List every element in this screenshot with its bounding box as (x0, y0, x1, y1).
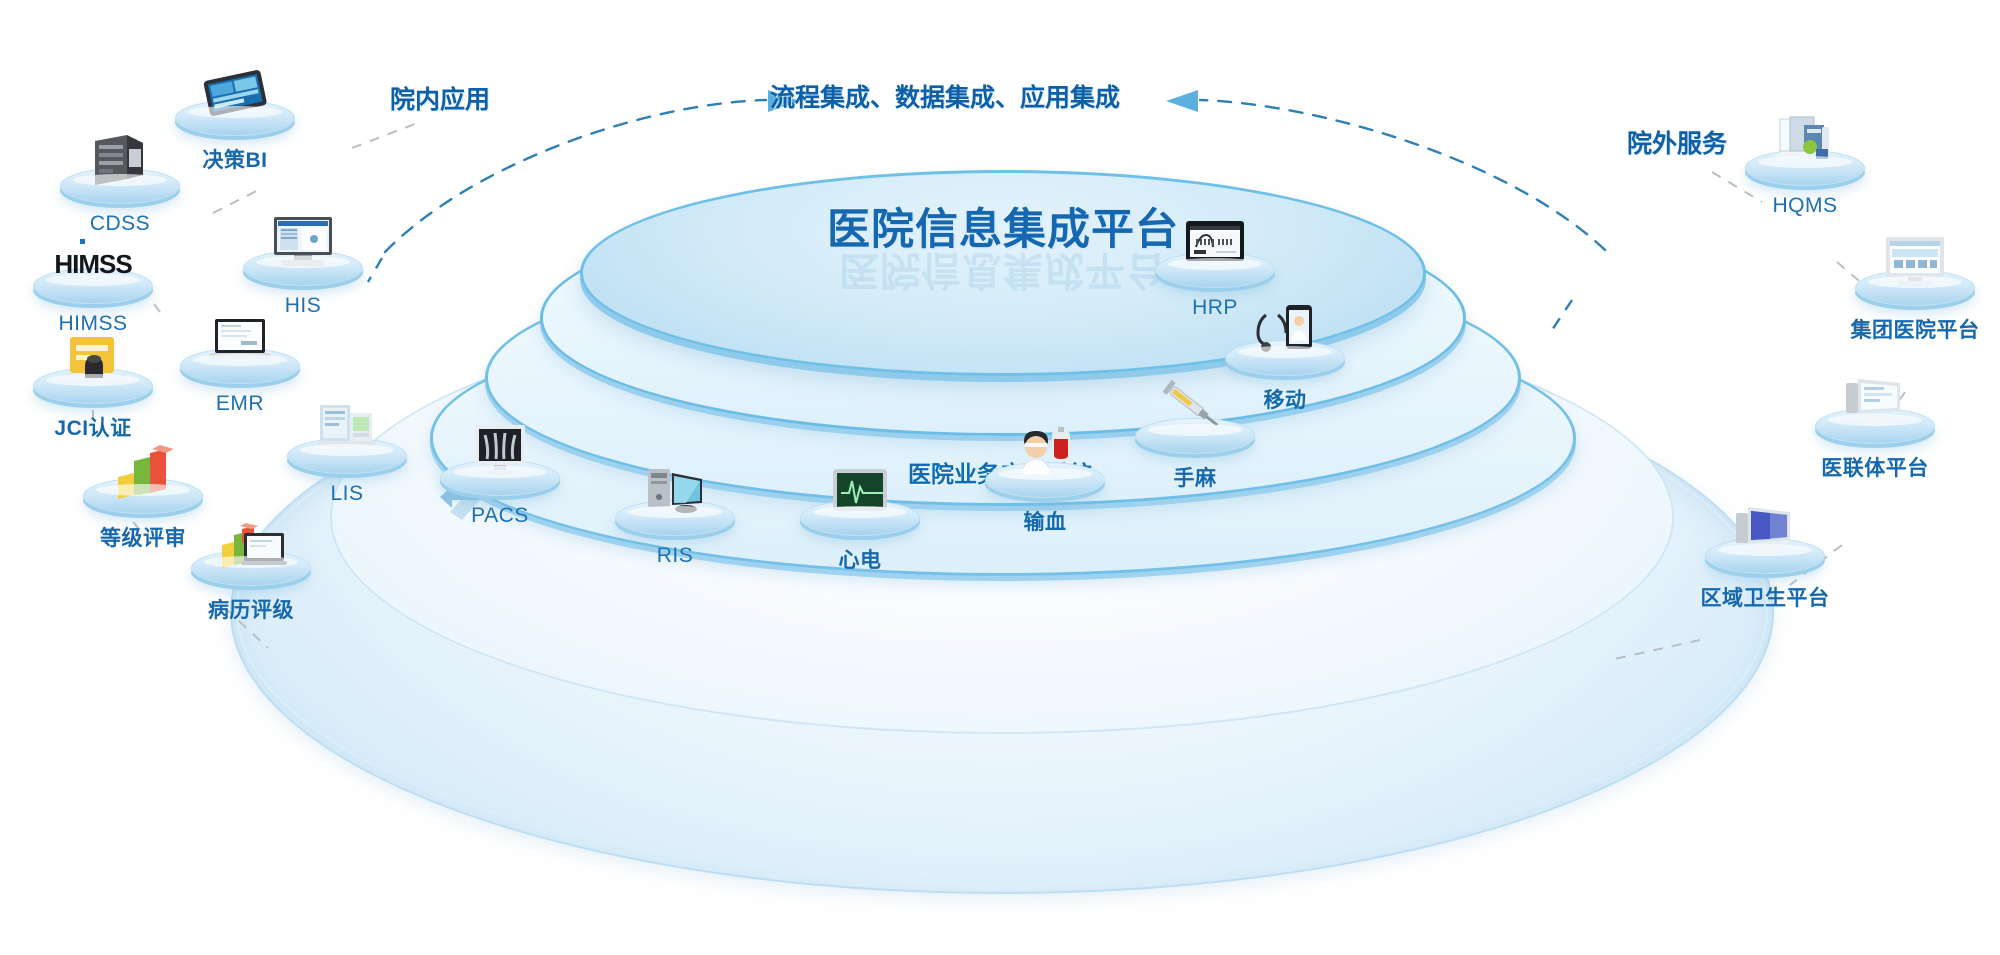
pedestal (1225, 340, 1345, 376)
node-grade-review[interactable]: 等级评审 (58, 478, 228, 552)
portal-monitor-icon (1876, 231, 1954, 293)
section-title-internal: 院内应用 (390, 80, 490, 116)
pedestal (985, 462, 1105, 498)
hrp-connector (1552, 300, 1572, 330)
node-himss[interactable]: HIMSS HIMSS (8, 268, 178, 336)
node-decision-bi[interactable]: 决策BI (150, 100, 320, 174)
pedestal (60, 168, 180, 204)
network-monitor-icon (1836, 369, 1914, 431)
node-his[interactable]: HIS (218, 250, 388, 318)
node-label: 集团医院平台 (1830, 314, 2000, 344)
pedestal (83, 478, 203, 514)
svg-text:HIMSS: HIMSS (54, 249, 132, 279)
node-blood-transfusion[interactable]: 输血 (960, 462, 1130, 536)
server-rack-icon (81, 129, 159, 191)
node-label: LIS (262, 482, 432, 506)
hrp-monitor-icon (1176, 213, 1254, 275)
node-label: 病历评级 (166, 594, 336, 624)
node-label: PACS (415, 504, 585, 528)
pedestal (175, 100, 295, 136)
pedestal (1815, 408, 1935, 444)
node-label: 区域卫生平台 (1680, 582, 1850, 612)
pedestal (1135, 418, 1255, 454)
pedestal (243, 250, 363, 286)
pedestal (287, 438, 407, 474)
pedestal (180, 348, 300, 384)
himss-logo-icon: HIMSS (54, 229, 132, 291)
certificate-seal-icon (54, 329, 132, 391)
pedestal: HIMSS (33, 268, 153, 304)
section-title-external: 院外服务 (1627, 124, 1727, 160)
node-emr[interactable]: EMR (155, 348, 325, 416)
node-label: 等级评审 (58, 522, 228, 552)
pedestal (191, 550, 311, 586)
node-jci[interactable]: JCI认证 (8, 368, 178, 442)
tower-pc-icon (636, 461, 714, 523)
pedestal (440, 460, 560, 496)
node-label: EMR (155, 392, 325, 416)
laptop-icon (201, 309, 279, 371)
node-group-hospital-platform[interactable]: 集团医院平台 (1830, 270, 2000, 344)
pedestal (1705, 538, 1825, 574)
node-regional-health-platform[interactable]: 区域卫生平台 (1680, 538, 1850, 612)
node-label: 输血 (960, 506, 1130, 536)
pedestal (1745, 150, 1865, 186)
blood-bag-doctor-icon (1006, 423, 1084, 485)
node-medical-union-platform[interactable]: 医联体平台 (1790, 408, 1960, 482)
node-label: 移动 (1200, 384, 1370, 414)
xray-monitor-icon (461, 421, 539, 483)
node-label: 心电 (775, 544, 945, 574)
node-label: HQMS (1720, 194, 1890, 218)
node-mobile[interactable]: 移动 (1200, 340, 1370, 414)
right-arrow-head (1166, 90, 1198, 112)
pedestal (1155, 252, 1275, 288)
node-hrp[interactable]: HRP (1130, 252, 1300, 320)
ecg-monitor-icon (821, 461, 899, 523)
pedestal (800, 500, 920, 536)
lab-analyzer-icon (308, 399, 386, 461)
pedestal (615, 500, 735, 536)
architecture-diagram-canvas: 院内应用 院外服务 流程集成、数据集成、应用集成 基础数据中心 临床数据中心 运… (0, 0, 2000, 955)
node-label: 医联体平台 (1790, 452, 1960, 482)
tablet-dashboard-icon (196, 61, 274, 123)
pedestal (33, 368, 153, 404)
node-label: JCI认证 (8, 412, 178, 442)
node-ecg[interactable]: 心电 (775, 500, 945, 574)
node-anesthesia[interactable]: 手麻 (1110, 418, 1280, 492)
node-cdss[interactable]: CDSS (35, 168, 205, 236)
pedestal (1855, 270, 1975, 306)
node-ris[interactable]: RIS (590, 500, 760, 568)
documents-stack-icon (1766, 111, 1844, 173)
desktop-monitor-icon (264, 211, 342, 273)
integration-banner-text: 流程集成、数据集成、应用集成 (770, 78, 1120, 114)
node-lis[interactable]: LIS (262, 438, 432, 506)
node-label: 手麻 (1110, 462, 1280, 492)
node-pacs[interactable]: PACS (415, 460, 585, 528)
node-hqms[interactable]: HQMS (1720, 150, 1890, 218)
node-emr-rating[interactable]: 病历评级 (166, 550, 336, 624)
bar-chart-icon (104, 439, 182, 501)
node-label: HRP (1130, 296, 1300, 320)
chart-laptop-icon (212, 511, 290, 573)
node-label: RIS (590, 544, 760, 568)
blue-monitor-icon (1726, 499, 1804, 561)
